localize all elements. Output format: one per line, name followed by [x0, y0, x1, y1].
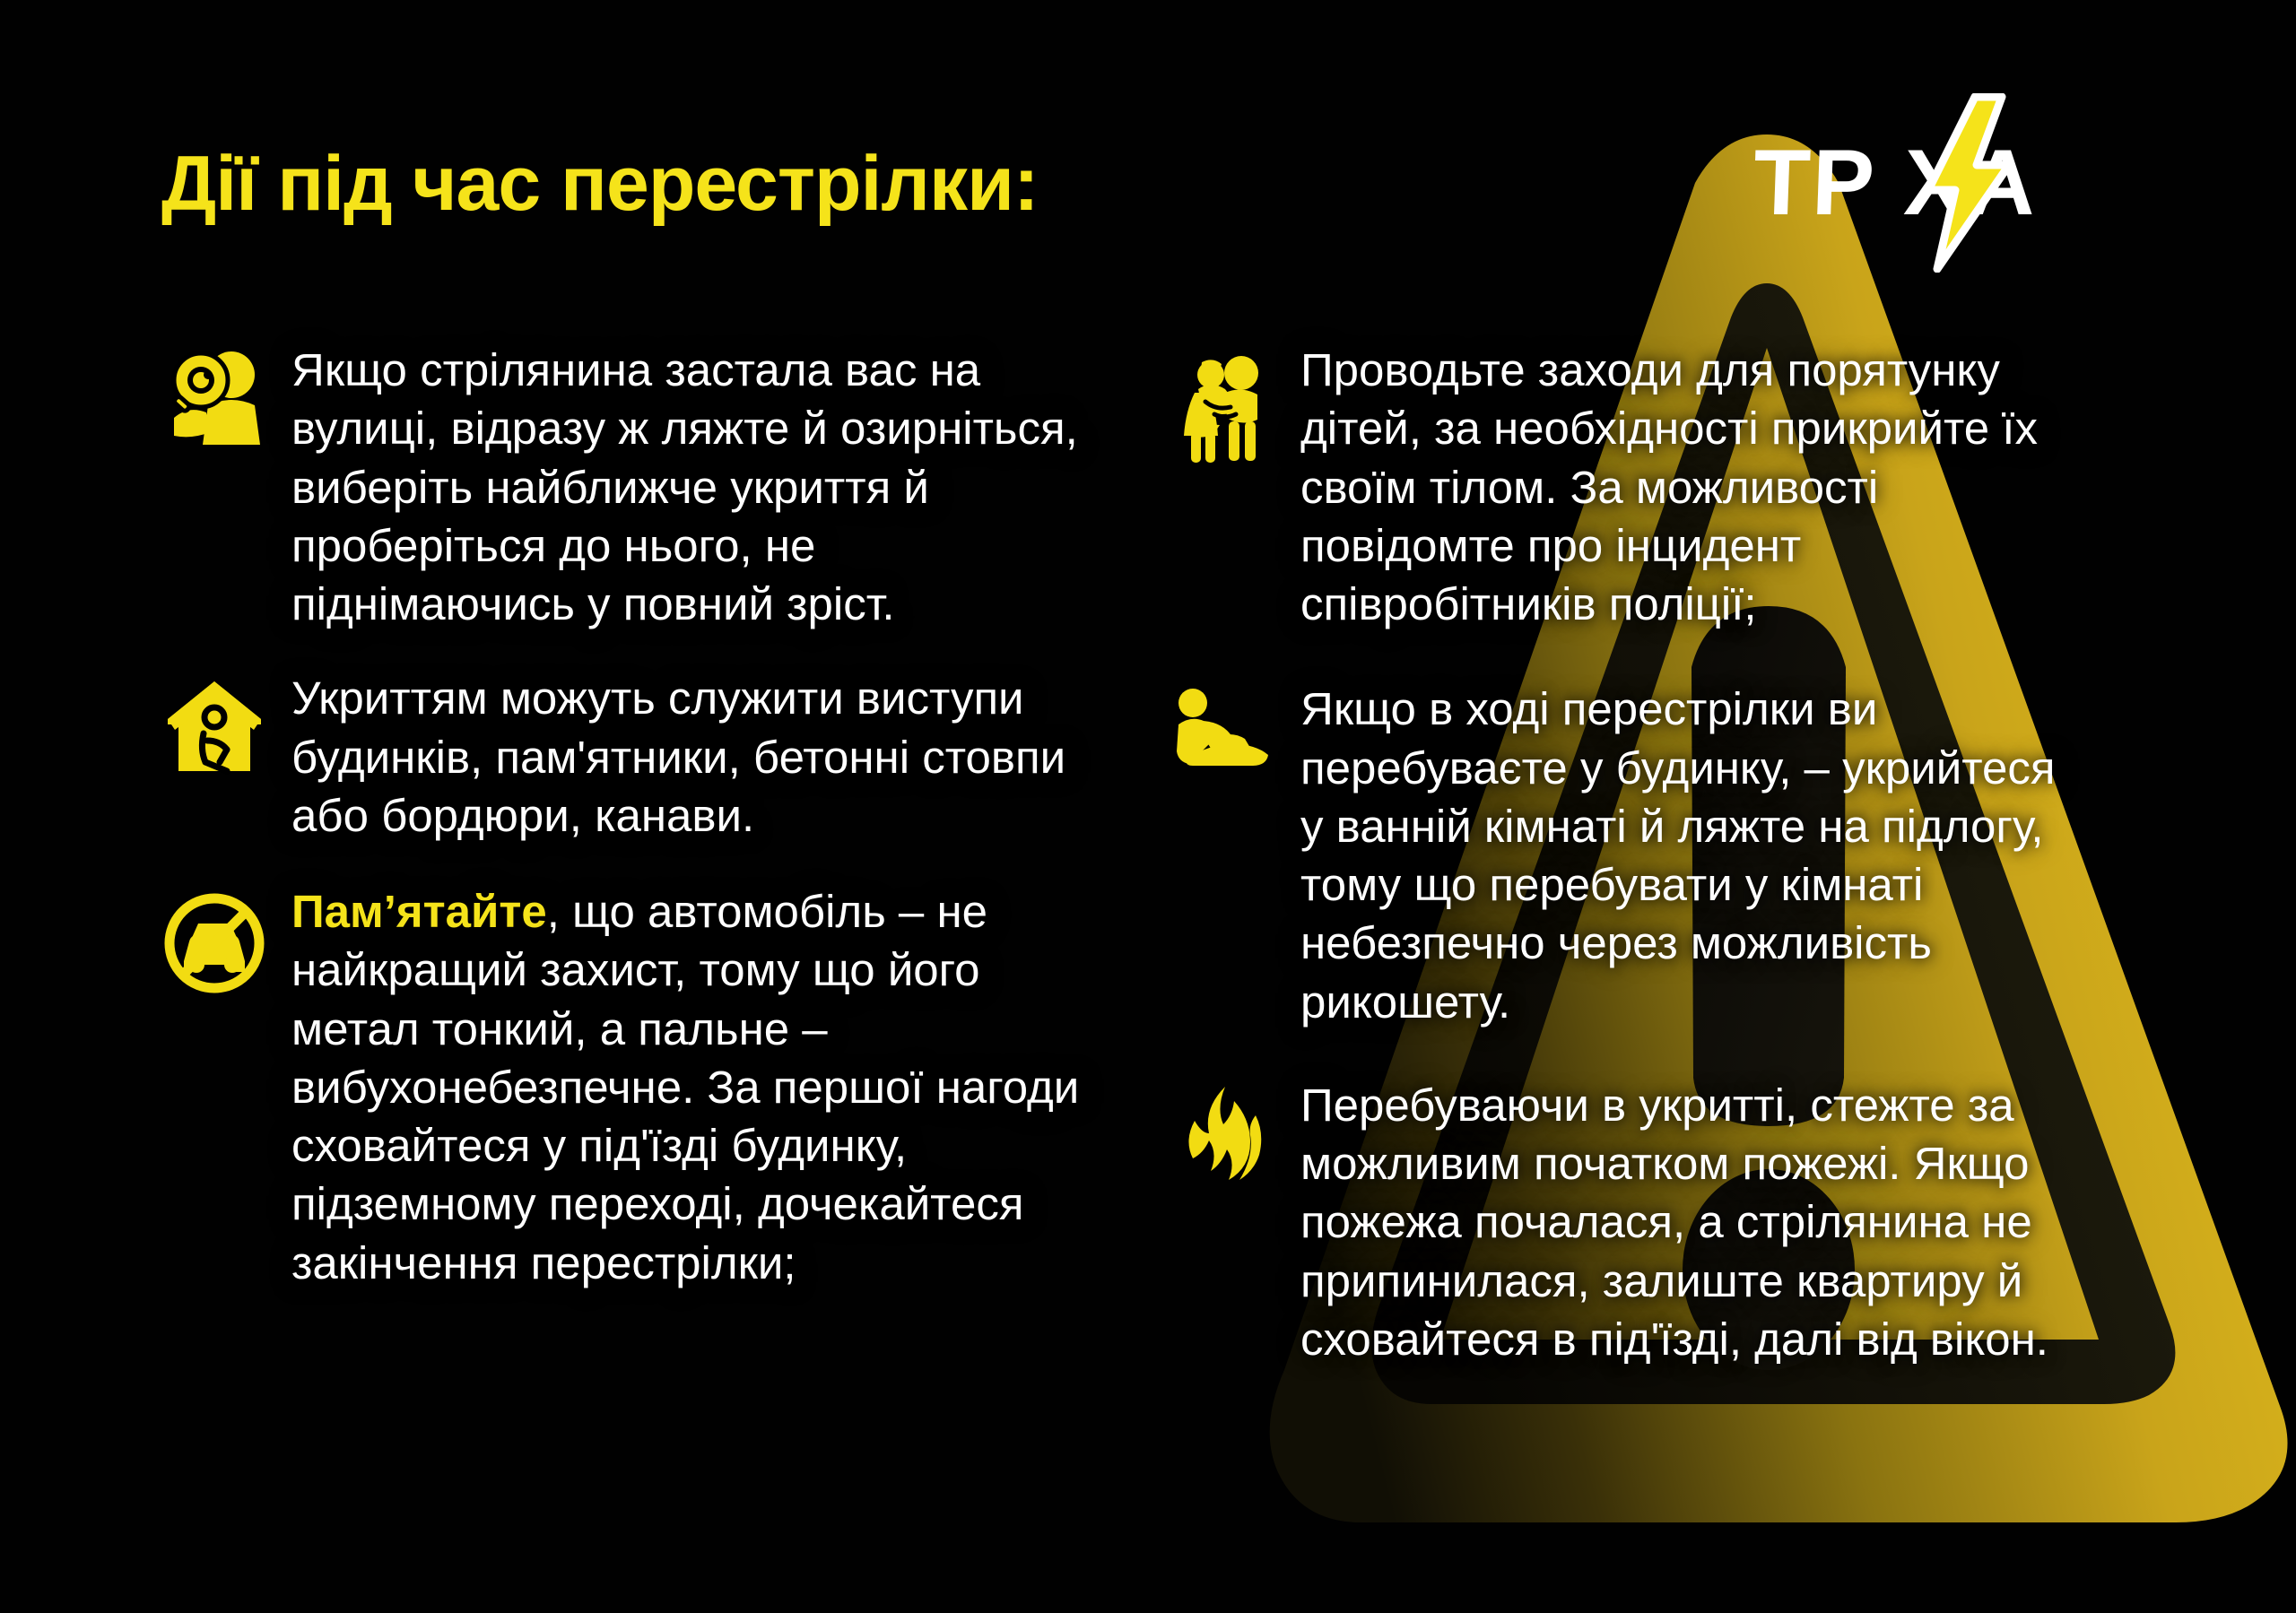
tip-item: Якщо в ході перестрілки ви перебуваєте у… [1166, 680, 2072, 1031]
person-with-magnifier-icon [157, 350, 272, 464]
infographic-poster: Дії під час перестрілки: ТР I ХА [0, 0, 2296, 1613]
no-car-prohibition-icon [157, 891, 272, 1006]
brand-logo: ТР I ХА [1753, 133, 2037, 233]
tip-item: Якщо стрілянина застала вас на вулиці, в… [157, 341, 1090, 633]
right-column: Проводьте заходи для порятунку дітей, за… [1166, 341, 2072, 1409]
tip-text: Якщо в ході перестрілки ви перебуваєте у… [1300, 680, 2072, 1031]
poster-header: Дії під час перестрілки: ТР I ХА [0, 0, 2296, 296]
tip-text: Пам’ятайте, що автомобіль – не найкращий… [291, 882, 1090, 1292]
parent-shielding-child-icon [1166, 350, 1281, 464]
tip-text: Укриттям можуть служити виступи будинків… [291, 669, 1090, 845]
tip-text-rest: , що автомобіль – не найкращий захист, т… [291, 886, 1079, 1288]
tip-text: Якщо стрілянина застала вас на вулиці, в… [291, 341, 1090, 633]
flame-fire-icon [1166, 1085, 1281, 1200]
left-column: Якщо стрілянина застала вас на вулиці, в… [157, 341, 1090, 1333]
tip-item: Укриттям можуть служити виступи будинків… [157, 669, 1090, 845]
house-shelter-person-icon [157, 678, 272, 793]
logo-text-before: ТР [1752, 136, 1878, 230]
lightning-bolt-icon [1919, 93, 2018, 273]
tip-item: Пам’ятайте, що автомобіль – не найкращий… [157, 882, 1090, 1292]
tip-item: Перебуваючи в укритті, стежте за можливи… [1166, 1076, 2072, 1368]
person-sitting-on-floor-icon [1166, 689, 1281, 803]
page-title: Дії під час перестрілки: [161, 145, 1039, 222]
tip-item: Проводьте заходи для порятунку дітей, за… [1166, 341, 2072, 633]
tip-text: Проводьте заходи для порятунку дітей, за… [1300, 341, 2072, 633]
tip-highlight: Пам’ятайте [291, 886, 547, 937]
tip-text: Перебуваючи в укритті, стежте за можливи… [1300, 1076, 2072, 1368]
